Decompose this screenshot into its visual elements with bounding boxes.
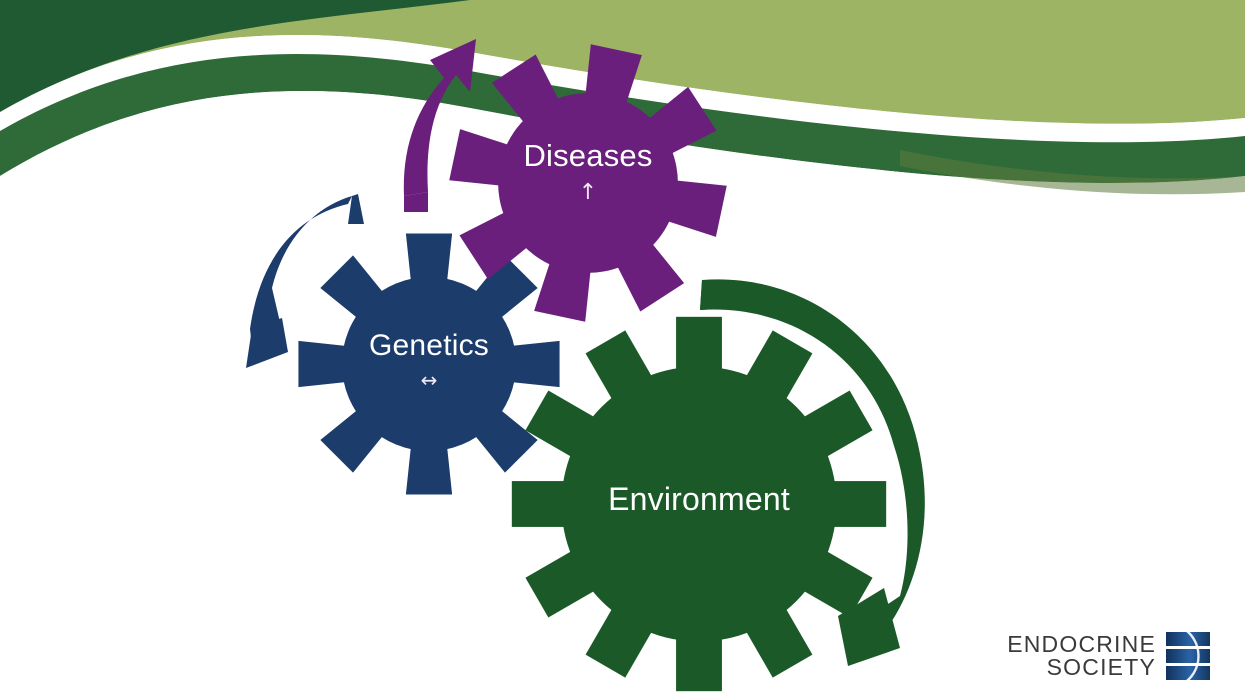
gear-diseases[interactable]: Diseases ↑: [443, 38, 733, 328]
lab-photo-svg: [900, 0, 1245, 180]
dark-green-corner: [0, 0, 470, 112]
purple-arrow-tail: [404, 192, 428, 212]
gear-genetics-label: Genetics: [293, 329, 565, 363]
left-right-arrow-icon: ↔: [293, 368, 565, 392]
navy-arrow-tail: [348, 194, 364, 224]
slide-canvas: Environment Genetics ↔: [0, 0, 1245, 700]
logo-line-2: SOCIETY: [1047, 656, 1156, 679]
endocrine-society-globe-bars-icon: [1165, 630, 1211, 682]
lab-photo: [900, 0, 1245, 180]
endocrine-society-logo[interactable]: ENDOCRINE SOCIETY: [1007, 630, 1211, 682]
gear-diseases-label: Diseases: [443, 138, 733, 174]
gear-environment-label: Environment: [508, 481, 890, 518]
up-arrow-icon: ↑: [443, 180, 733, 205]
navy-arrowhead: [246, 318, 288, 368]
logo-line-1: ENDOCRINE: [1007, 633, 1156, 656]
logo-wordmark: ENDOCRINE SOCIETY: [1007, 633, 1156, 679]
gear-environment[interactable]: Environment: [508, 308, 890, 700]
